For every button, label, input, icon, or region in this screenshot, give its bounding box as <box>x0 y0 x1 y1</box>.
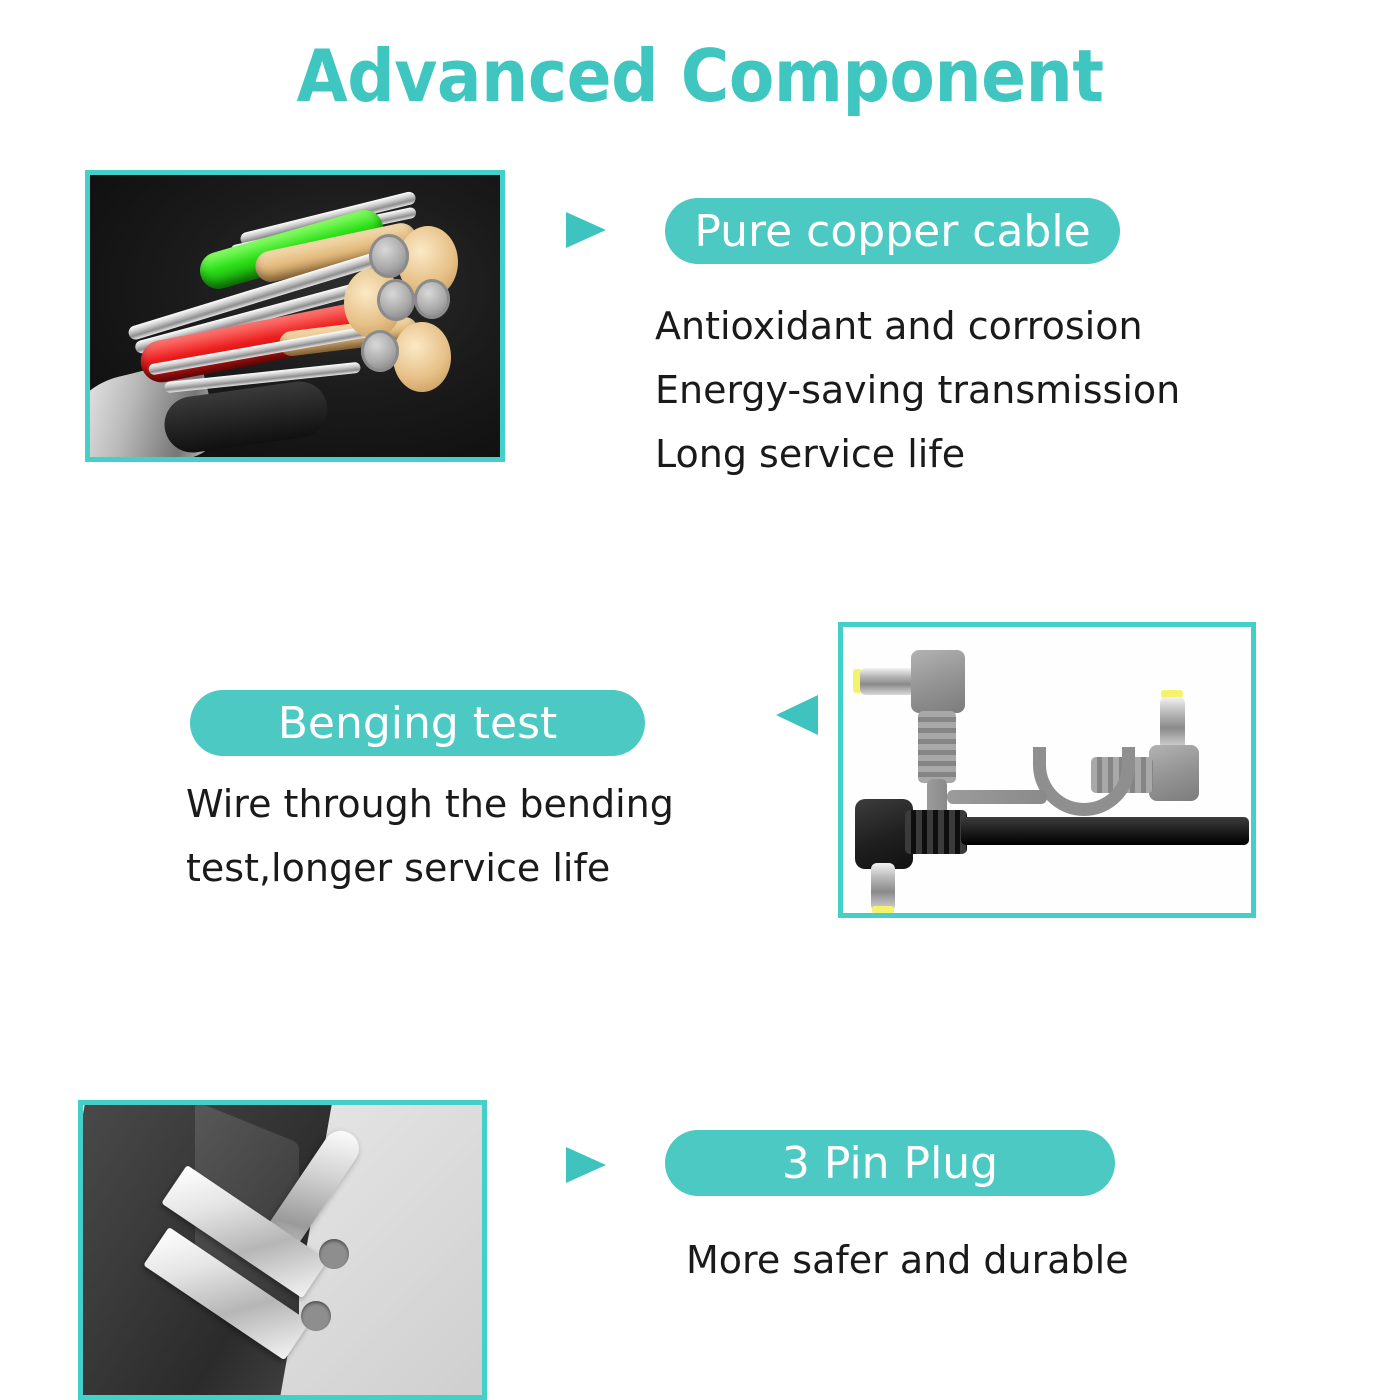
section-3-line-1: More safer and durable <box>686 1228 1129 1292</box>
live-blade-hole <box>319 1239 349 1269</box>
three-pin-plug-photo <box>83 1105 482 1395</box>
section-3-image-frame <box>78 1100 487 1400</box>
braided-strand-end <box>361 330 399 372</box>
braided-strand-end <box>414 279 450 319</box>
triangle-left-icon <box>776 695 818 735</box>
braided-strand-end <box>369 234 409 278</box>
section-1-description: Antioxidant and corrosion Energy-saving … <box>655 294 1180 486</box>
section-1-image-frame <box>85 170 505 462</box>
section-2-description: Wire through the bending test,longer ser… <box>186 772 674 900</box>
page-title: Advanced Component <box>56 34 1344 118</box>
section-1-line-1: Antioxidant and corrosion <box>655 294 1180 358</box>
badge-pure-copper-cable: Pure copper cable <box>665 198 1120 264</box>
section-1-line-2: Energy-saving transmission <box>655 358 1180 422</box>
section-3-description: More safer and durable <box>686 1228 1129 1292</box>
copper-cable-photo <box>90 175 500 457</box>
section-2-line-2: test,longer service life <box>186 836 674 900</box>
copper-wire-end <box>393 322 451 392</box>
section-1-line-3: Long service life <box>655 422 1180 486</box>
dc-connectors-photo <box>843 627 1251 913</box>
triangle-right-icon <box>566 1147 606 1183</box>
neutral-blade-hole <box>301 1301 331 1331</box>
infographic-canvas: Advanced Component Pure copper cable <box>0 0 1400 1400</box>
badge-benging-test: Benging test <box>190 690 645 756</box>
triangle-right-icon <box>566 212 606 248</box>
badge-3-pin-plug: 3 Pin Plug <box>665 1130 1115 1196</box>
section-2-image-frame <box>838 622 1256 918</box>
braided-strand-end <box>377 279 415 321</box>
section-2-line-1: Wire through the bending <box>186 772 674 836</box>
